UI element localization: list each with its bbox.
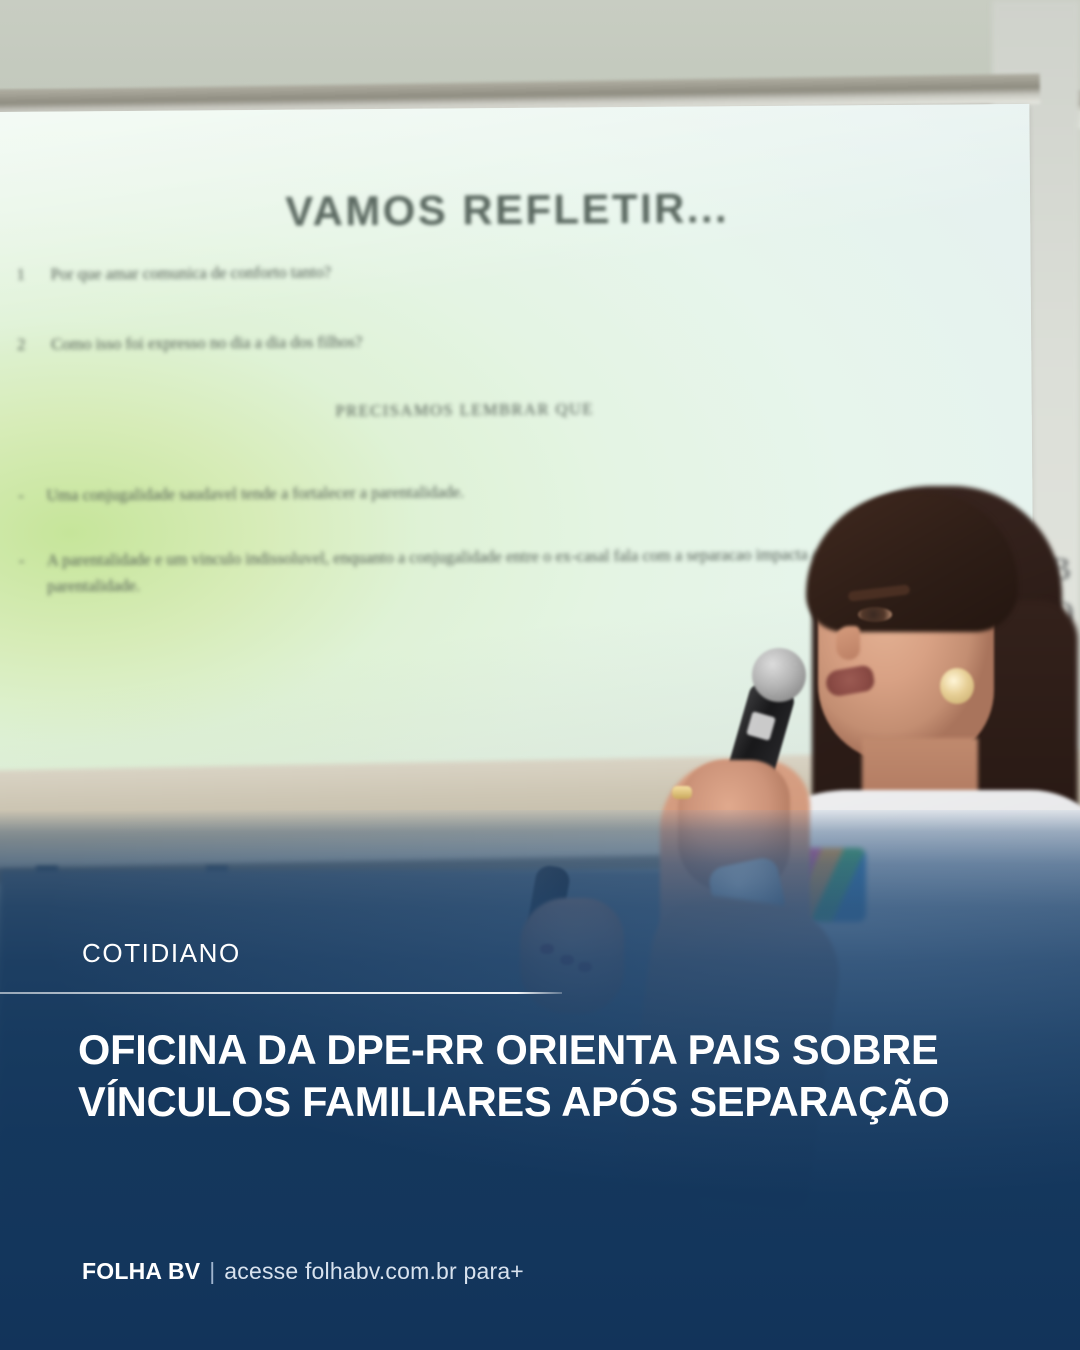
footer-separator: |: [209, 1258, 215, 1285]
finger-ring: [672, 786, 692, 799]
divider-rule: [0, 992, 562, 994]
nose: [836, 626, 860, 660]
category-label: COTIDIANO: [82, 938, 241, 969]
headline-line-2: VÍNCULOS FAMILIARES APÓS SEPARAÇÃO: [78, 1076, 978, 1128]
microphone-head-icon: [752, 648, 806, 702]
footer-credit: FOLHA BV | acesse folhabv.com.br para+: [82, 1258, 524, 1285]
footer-tagline[interactable]: acesse folhabv.com.br para+: [224, 1258, 524, 1285]
headline: OFICINA DA DPE-RR ORIENTA PAIS SOBRE VÍN…: [78, 1024, 978, 1128]
news-card: BO VAMOS REFLETIR... 1 Por que amar comu…: [0, 0, 1080, 1350]
brand-name: FOLHA BV: [82, 1258, 200, 1285]
earring: [940, 668, 974, 704]
headline-line-1: OFICINA DA DPE-RR ORIENTA PAIS SOBRE: [78, 1024, 978, 1076]
eye: [858, 607, 892, 622]
